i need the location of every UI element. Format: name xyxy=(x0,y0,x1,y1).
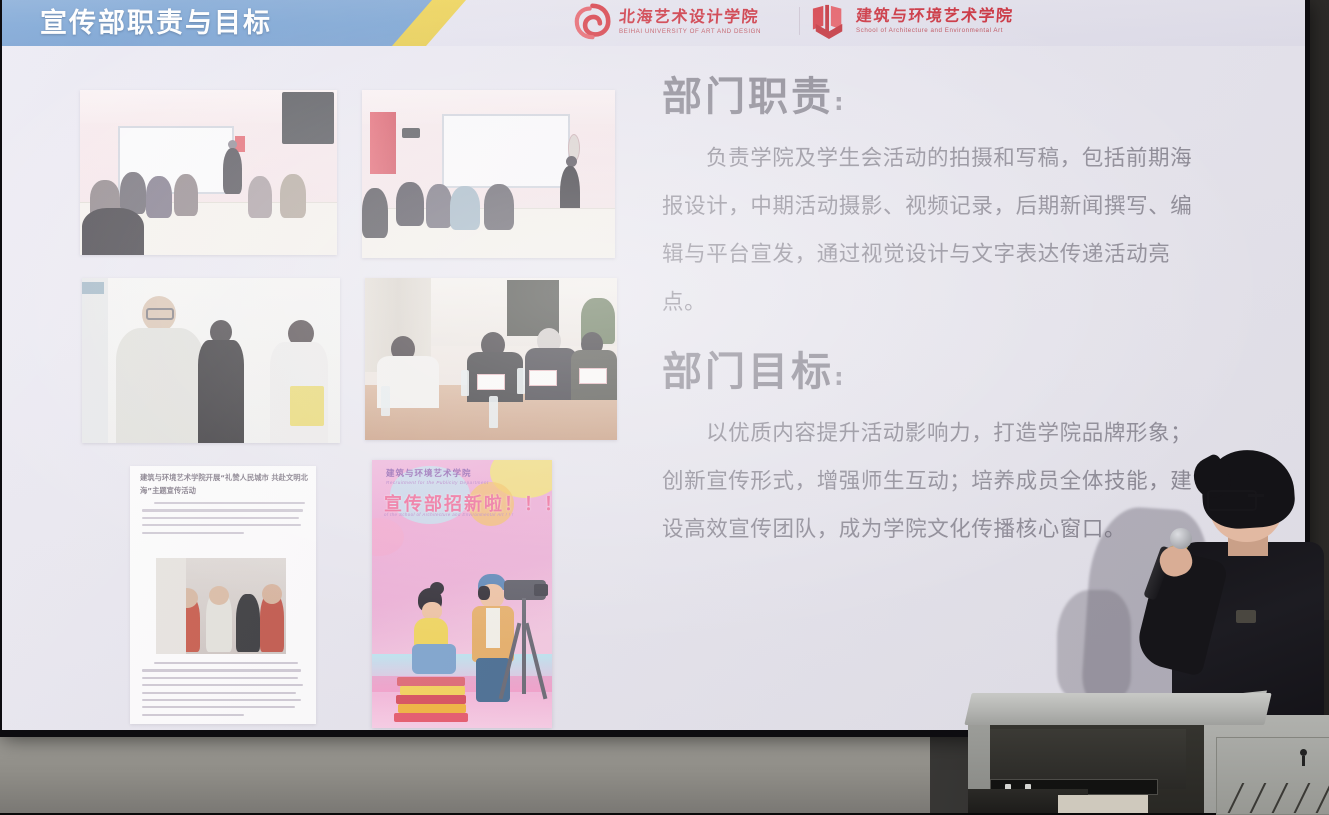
speaker-shadow-secondary xyxy=(1057,590,1131,698)
poster-figure-girl xyxy=(406,588,458,680)
poster-camera-tripod xyxy=(500,580,548,710)
school-logo: 建筑与环境艺术学院 School of Architecture and Env… xyxy=(810,3,1014,39)
article-body-top xyxy=(142,502,306,539)
school-name-cn: 建筑与环境艺术学院 xyxy=(855,7,1014,25)
lectern-vent-hatching xyxy=(1226,783,1329,813)
university-logo: 北海艺术设计学院 BEIHAI UNIVERSITY OF ART AND DE… xyxy=(574,3,761,40)
spiral-logo-icon xyxy=(574,3,611,40)
photo-conference-4 xyxy=(365,278,617,440)
photo-classroom-2 xyxy=(362,90,615,258)
projection-screen: 宣传部职责与目标 北海艺术设计学院 BEIHAI UNIVERSITY OF A… xyxy=(2,0,1305,730)
presenter-jacket-logo xyxy=(1236,610,1256,623)
news-article-scan: 建筑与环境艺术学院开展“礼赞人民城市 共赴文明北海”主题宣传活动 xyxy=(130,466,316,724)
heading-text: 部门目标 xyxy=(662,349,834,395)
slide-header-bar: 宣传部职责与目标 北海艺术设计学院 BEIHAI UNIVERSITY OF A… xyxy=(2,0,1305,46)
heading-text: 部门职责 xyxy=(662,74,834,120)
heading-colon: : xyxy=(834,88,847,116)
section-heading-responsibilities: 部门职责: xyxy=(662,70,1222,129)
poster-headline-en: of the School of Architecture and Enviro… xyxy=(384,512,514,517)
section-body-responsibilities: 负责学院及学生会活动的拍摄和写稿，包括前期海报设计，中期活动摄影、视频记录，后期… xyxy=(662,135,1202,327)
article-photo xyxy=(156,558,286,654)
section-responsibilities: 部门职责: 负责学院及学生会活动的拍摄和写稿，包括前期海报设计，中期活动摄影、视… xyxy=(662,70,1222,327)
school-logo-text: 建筑与环境艺术学院 School of Architecture and Env… xyxy=(856,7,1014,35)
university-logo-text: 北海艺术设计学院 BEIHAI UNIVERSITY OF ART AND DE… xyxy=(619,8,761,36)
microphone-icon xyxy=(1170,528,1192,549)
book-building-logo-icon xyxy=(810,3,848,39)
school-name-en: School of Architecture and Environmental… xyxy=(856,26,1014,35)
slide-text-column: 部门职责: 负责学院及学生会活动的拍摄和写稿，包括前期海报设计，中期活动摄影、视… xyxy=(662,70,1222,554)
projection-screen-frame: 宣传部职责与目标 北海艺术设计学院 BEIHAI UNIVERSITY OF A… xyxy=(0,0,1310,737)
article-body-bottom xyxy=(142,662,306,721)
heading-colon: : xyxy=(834,363,847,391)
recruitment-poster: 建筑与环境艺术学院 Recruitment for the Publicity … xyxy=(372,460,552,728)
poster-title-cn: 建筑与环境艺术学院 xyxy=(386,467,472,479)
article-headline: 建筑与环境艺术学院开展“礼赞人民城市 共赴文明北海”主题宣传活动 xyxy=(140,472,308,497)
photo-faculty-visit-3 xyxy=(82,278,340,443)
lock-icon xyxy=(1300,749,1307,756)
logo-divider xyxy=(799,7,800,35)
poster-book-stack xyxy=(394,676,468,722)
photo-classroom-1 xyxy=(80,90,337,255)
lectern-console xyxy=(968,693,1329,813)
university-name-en: BEIHAI UNIVERSITY OF ART AND DESIGN xyxy=(619,27,761,36)
university-name-cn: 北海艺术设计学院 xyxy=(618,8,761,26)
poster-title-en: Recruitment for the Publicity Department xyxy=(386,480,489,485)
lock-shackle xyxy=(1302,756,1305,766)
photo-collage: 建筑与环境艺术学院开展“礼赞人民城市 共赴文明北海”主题宣传活动 xyxy=(80,90,620,690)
glasses-temple xyxy=(1248,494,1264,497)
lectern-top-surface xyxy=(964,693,1271,725)
section-heading-goals: 部门目标: xyxy=(662,345,1222,404)
lectern-base-plinth xyxy=(1058,795,1148,813)
page-title: 宣传部职责与目标 xyxy=(40,3,272,43)
